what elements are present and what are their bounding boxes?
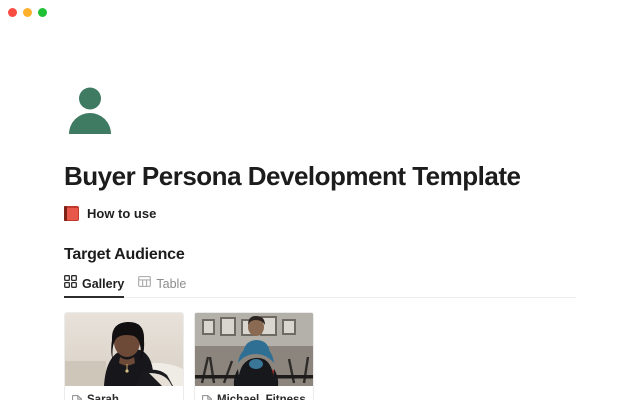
tab-gallery[interactable]: Gallery	[64, 275, 124, 297]
document-icon	[72, 394, 82, 400]
gallery-card[interactable]: Sarah. Marketing Manager	[64, 312, 184, 400]
how-to-use-link[interactable]: How to use	[64, 204, 576, 224]
section-title: Target Audience	[64, 246, 576, 264]
tab-table[interactable]: Table	[138, 275, 186, 297]
card-title: Michael, Fitness Trainer	[217, 393, 306, 400]
card-body: Michael, Fitness Trainer	[195, 386, 313, 400]
card-image-michael	[195, 313, 313, 386]
grid-icon	[64, 275, 77, 293]
tab-gallery-label: Gallery	[82, 277, 124, 291]
maximize-button[interactable]	[38, 8, 47, 17]
view-tabbar: Gallery Table	[64, 276, 576, 298]
card-body: Sarah. Marketing Manager	[65, 386, 183, 400]
card-image-sarah	[65, 313, 183, 386]
closed-book-icon	[64, 206, 79, 221]
app-window: Buyer Persona Development Template How t…	[0, 0, 640, 400]
tab-table-label: Table	[156, 277, 186, 291]
page-title: Buyer Persona Development Template	[64, 162, 576, 192]
minimize-button[interactable]	[23, 8, 32, 17]
window-titlebar	[0, 0, 640, 24]
card-title: Sarah. Marketing Manager	[87, 393, 176, 400]
page-content: Buyer Persona Development Template How t…	[0, 82, 640, 400]
gallery-card[interactable]: Michael, Fitness Trainer	[194, 312, 314, 400]
document-icon	[202, 394, 212, 400]
close-button[interactable]	[8, 8, 17, 17]
page-avatar-icon[interactable]	[64, 82, 116, 134]
gallery-grid: Sarah. Marketing Manager	[64, 312, 576, 400]
table-icon	[138, 275, 151, 293]
how-to-use-label: How to use	[87, 206, 156, 221]
